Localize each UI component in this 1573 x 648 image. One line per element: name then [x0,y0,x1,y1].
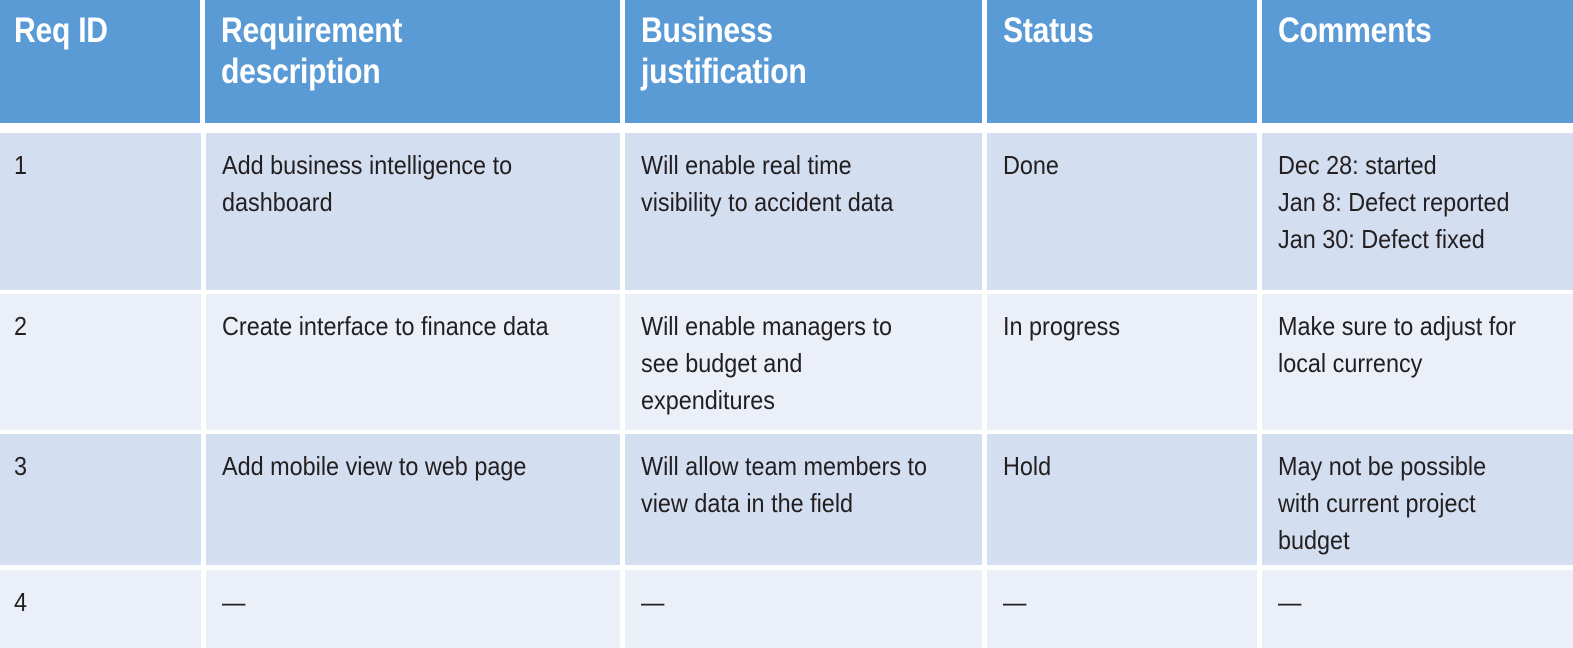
cell-business-justification: Will allow team members to view data in … [625,434,982,565]
cell-requirement-description-value: — [222,584,568,621]
cell-comments-value: May not be possible with current project… [1278,448,1531,559]
column-header-status-label: Status [1003,10,1221,51]
cell-comments: May not be possible with current project… [1262,434,1573,565]
table-row[interactable]: 3 Add mobile view to web page Will allow… [0,434,1573,565]
table-header-row: Req ID Requirement description Business … [0,0,1573,123]
cell-req-id-value: 3 [14,448,169,485]
cell-requirement-description-value: Add mobile view to web page [222,448,568,485]
column-header-business-justification[interactable]: Business justification [625,0,982,123]
column-header-comments-label: Comments [1278,10,1532,51]
cell-status-value: In progress [1003,308,1219,345]
cell-req-id-value: 1 [14,147,169,184]
cell-requirement-description: Create interface to finance data [206,294,621,430]
cell-business-justification-value: — [641,584,936,621]
table-row[interactable]: 1 Add business intelligence to dashboard… [0,133,1573,290]
cell-req-id: 2 [0,294,201,430]
cell-comments: Make sure to adjust for local currency [1262,294,1573,430]
cell-requirement-description-value: Create interface to finance data [222,308,568,345]
cell-business-justification: — [625,570,982,648]
cell-comments-value: Dec 28: started Jan 8: Defect reported J… [1278,147,1531,258]
cell-requirement-description-value: Add business intelligence to dashboard [222,147,568,221]
cell-business-justification-value: Will enable real time visibility to acci… [641,147,936,221]
cell-requirement-description: Add mobile view to web page [206,434,621,565]
column-header-requirement-description[interactable]: Requirement description [205,0,620,123]
column-header-business-justification-label: Business justification [641,10,935,92]
cell-status: — [987,570,1257,648]
cell-status-value: Hold [1003,448,1219,485]
cell-requirement-description: Add business intelligence to dashboard [206,133,621,290]
column-header-comments[interactable]: Comments [1262,0,1573,123]
column-header-req-id[interactable]: Req ID [0,0,200,123]
column-header-requirement-description-label: Requirement description [221,10,564,92]
requirements-table: Req ID Requirement description Business … [0,0,1573,648]
cell-business-justification-value: Will enable managers to see budget and e… [641,308,936,419]
cell-status: Hold [987,434,1257,565]
cell-comments: — [1262,570,1573,648]
cell-business-justification: Will enable managers to see budget and e… [625,294,982,430]
cell-requirement-description: — [206,570,621,648]
cell-status: Done [987,133,1257,290]
table-row[interactable]: 4 — — — — [0,570,1573,648]
table-row[interactable]: 2 Create interface to finance data Will … [0,294,1573,430]
cell-business-justification: Will enable real time visibility to acci… [625,133,982,290]
cell-comments-value: — [1278,584,1531,621]
cell-req-id: 3 [0,434,201,565]
cell-req-id-value: 2 [14,308,169,345]
cell-status-value: Done [1003,147,1219,184]
cell-status: In progress [987,294,1257,430]
cell-comments: Dec 28: started Jan 8: Defect reported J… [1262,133,1573,290]
cell-req-id: 4 [0,570,201,648]
cell-req-id-value: 4 [14,584,169,621]
cell-status-value: — [1003,584,1219,621]
cell-comments-value: Make sure to adjust for local currency [1278,308,1531,382]
column-header-status[interactable]: Status [987,0,1257,123]
cell-req-id: 1 [0,133,201,290]
column-header-req-id-label: Req ID [14,10,174,51]
cell-business-justification-value: Will allow team members to view data in … [641,448,936,522]
